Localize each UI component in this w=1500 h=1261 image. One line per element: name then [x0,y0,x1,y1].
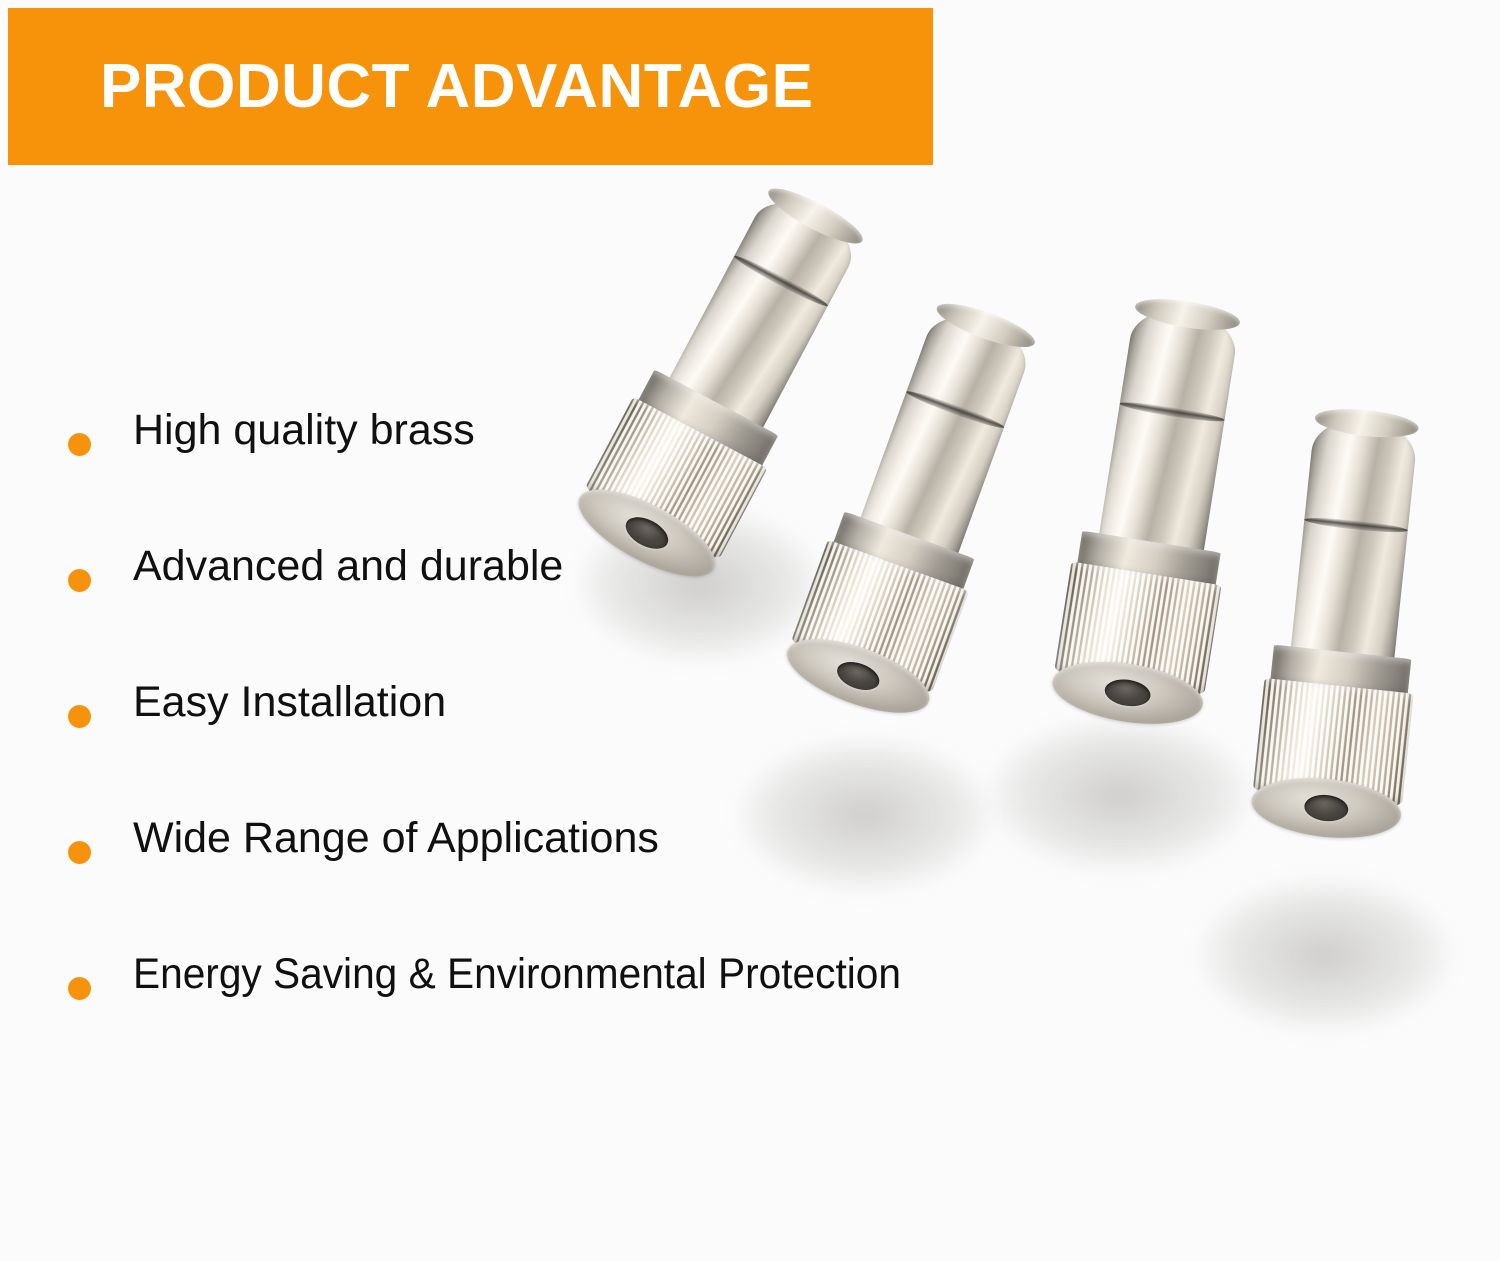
list-item: High quality brass [68,408,1028,544]
nozzle-shadow [1200,880,1450,1030]
advantage-label: Advanced and durable [133,544,563,589]
advantage-label: High quality brass [133,408,475,453]
nozzle-shadow [990,720,1250,870]
bullet-dot-icon [68,977,91,1000]
advantage-label: Easy Installation [133,680,446,725]
bullet-dot-icon [68,569,91,592]
list-item: Advanced and durable [68,544,1028,680]
list-item: Easy Installation [68,680,1028,816]
advantage-list: High quality brass Advanced and durable … [68,408,1028,1088]
advantage-label: Energy Saving & Environmental Protection [133,952,901,997]
list-item: Wide Range of Applications [68,816,1028,952]
list-item: Energy Saving & Environmental Protection [68,952,1028,1088]
misting-nozzle [1219,410,1472,850]
bullet-dot-icon [68,705,91,728]
header-banner: PRODUCT ADVANTAGE [8,8,933,165]
bullet-dot-icon [68,841,91,864]
bullet-dot-icon [68,433,91,456]
page-title: PRODUCT ADVANTAGE [100,56,813,118]
advantage-label: Wide Range of Applications [133,816,659,861]
